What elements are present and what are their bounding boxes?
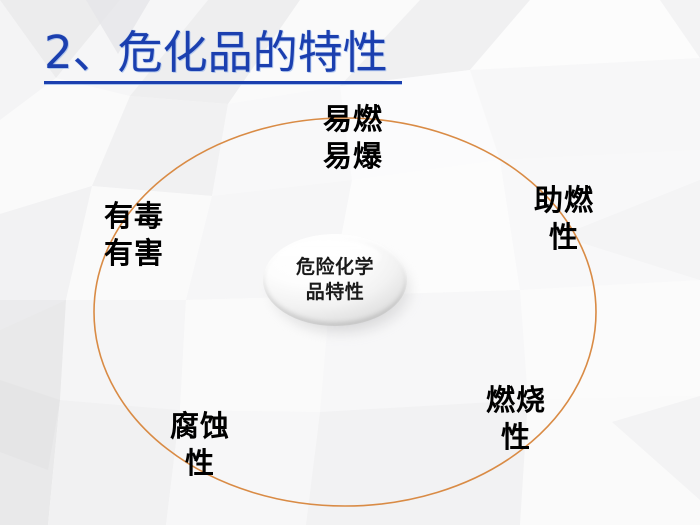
slide-canvas: 2、危化品的特性 易燃 易爆 助燃 性 有毒 有害 燃烧 性 腐蚀 性 危险化学… [0,0,700,525]
center-node: 危险化学 品特性 [263,234,407,326]
node-label-combustion-supporting: 助燃 性 [506,182,622,256]
node-label-corrosive: 腐蚀 性 [142,408,258,482]
node-label-flammable: 易燃 易爆 [288,101,418,175]
node-label-toxic: 有毒 有害 [76,198,192,272]
node-label-burning: 燃烧 性 [458,382,574,456]
center-node-label: 危险化学 品特性 [263,255,407,305]
